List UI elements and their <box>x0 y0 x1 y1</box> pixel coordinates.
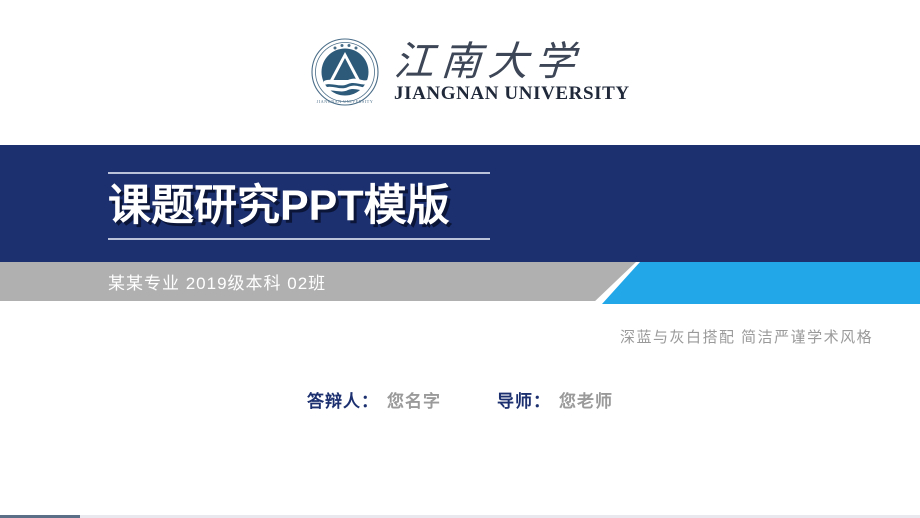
university-logo-lockup: JIANGNAN UNIVERSITY 江南大学 JIANGNAN UNIVER… <box>310 32 630 112</box>
advisor-value: 您老师 <box>559 387 613 412</box>
presenter-row: 答辩人： 您名字 导师： 您老师 <box>0 387 920 412</box>
wordmark-chinese: 江南大学 <box>393 42 632 82</box>
speaker-value: 您名字 <box>387 387 441 412</box>
wordmark-english: JIANGNAN UNIVERSITY <box>394 84 630 105</box>
class-info-text: 某某专业 2019级本科 02班 <box>108 262 326 301</box>
slide-title: 课题研究PPT模版 <box>108 178 450 234</box>
university-wordmark: 江南大学 JIANGNAN UNIVERSITY <box>394 40 630 105</box>
tagline-text: 深蓝与灰白搭配 简洁严谨学术风格 <box>620 326 873 347</box>
advisor-label: 导师： <box>497 387 551 412</box>
speaker-label: 答辩人： <box>307 387 379 412</box>
jiangnan-university-seal-icon: JIANGNAN UNIVERSITY <box>310 37 380 107</box>
presentation-slide: JIANGNAN UNIVERSITY 江南大学 JIANGNAN UNIVER… <box>0 0 920 518</box>
title-band: 课题研究PPT模版 <box>0 145 920 262</box>
svg-text:JIANGNAN UNIVERSITY: JIANGNAN UNIVERSITY <box>317 99 374 104</box>
title-rule-top <box>108 172 490 174</box>
title-rule-bottom <box>108 238 490 240</box>
cyan-accent-shape <box>598 262 920 304</box>
